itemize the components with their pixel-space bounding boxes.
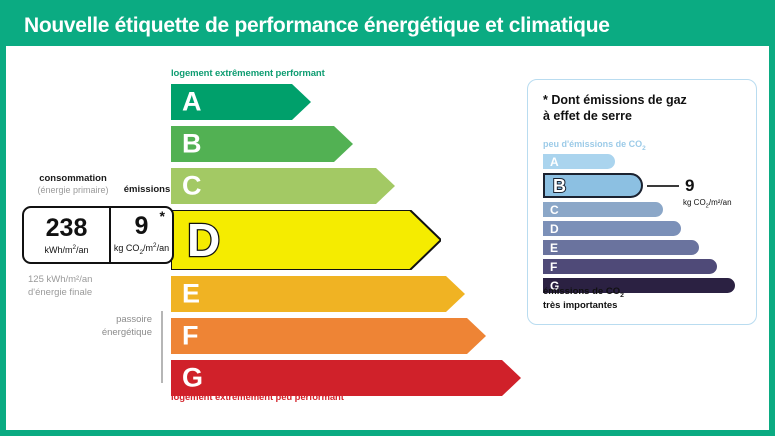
- passoire-line2: énergétique: [68, 327, 152, 340]
- ghg-caption-high: émissions de CO2 très importantes: [543, 286, 624, 313]
- energy-class-f-letter: F: [182, 323, 199, 350]
- energy-class-g-letter: G: [182, 365, 203, 392]
- ghg-class-d: D: [543, 221, 681, 236]
- scale-caption-bottom: logement extrêmement peu performant: [171, 392, 344, 403]
- ghg-heading-line2: à effet de serre: [543, 108, 743, 124]
- final-energy-line2: d'énergie finale: [28, 287, 92, 300]
- ghg-bar-group: ABCDEFG9kg CO2/m²/an: [543, 154, 743, 279]
- ghg-heading: * Dont émissions de gaz à effet de serre: [543, 92, 743, 125]
- dpe-card: Nouvelle étiquette de performance énergé…: [0, 0, 775, 436]
- ghg-class-b-letter: B: [553, 177, 566, 195]
- energy-class-d-letter: D: [187, 217, 220, 263]
- ghg-class-c-letter: C: [550, 204, 559, 216]
- ghg-panel: * Dont émissions de gaz à effet de serre…: [527, 79, 757, 325]
- energy-class-g-shape: [171, 360, 521, 396]
- ghg-class-d-letter: D: [550, 223, 559, 235]
- energy-bar-group: ABCDEFG: [171, 84, 521, 388]
- emissions-cell: * 9 kg CO2/m2/an: [111, 208, 172, 262]
- consumption-sublabel: (énergie primaire): [30, 185, 116, 196]
- ghg-value: 9: [685, 177, 694, 194]
- consumption-value: 238: [46, 216, 88, 241]
- energy-class-g: G: [171, 360, 521, 396]
- consumption-label-text: consommation: [39, 173, 107, 184]
- emissions-value: 9: [135, 214, 149, 239]
- ghg-caption-high-line1: émissions de CO2: [543, 286, 624, 300]
- energy-class-d: D: [171, 210, 441, 270]
- passoire-label: passoire énergétique: [68, 314, 152, 340]
- consumption-cell: 238 kWh/m2/an: [24, 208, 111, 262]
- ghg-class-a: A: [543, 154, 615, 169]
- ghg-class-c: C: [543, 202, 663, 217]
- title-bar: Nouvelle étiquette de performance énergé…: [6, 6, 769, 46]
- energy-class-c-letter: C: [182, 173, 202, 200]
- consumption-unit: kWh/m2/an: [44, 244, 88, 255]
- energy-class-a-letter: A: [182, 89, 202, 116]
- energy-class-f-shape: [171, 318, 486, 354]
- page-title: Nouvelle étiquette de performance énergé…: [24, 14, 610, 38]
- left-info-column: consommation (énergie primaire) émission…: [6, 46, 171, 436]
- energy-class-b: B: [171, 126, 353, 162]
- energy-class-c: C: [171, 168, 395, 204]
- scale-caption-top: logement extrêmement performant: [171, 68, 325, 79]
- footnote-asterisk: *: [160, 209, 165, 223]
- final-energy-line1: 125 kWh/m²/an: [28, 274, 92, 287]
- energy-class-e: E: [171, 276, 465, 312]
- passoire-divider: [161, 311, 163, 383]
- value-box: 238 kWh/m2/an * 9 kg CO2/m2/an: [22, 206, 174, 264]
- consumption-label: consommation (énergie primaire): [30, 173, 116, 196]
- ghg-class-a-letter: A: [550, 156, 559, 168]
- emissions-label: émissions: [116, 184, 178, 195]
- final-energy-note: 125 kWh/m²/an d'énergie finale: [28, 274, 92, 300]
- passoire-line1: passoire: [68, 314, 152, 327]
- energy-class-e-shape: [171, 276, 465, 312]
- energy-class-b-letter: B: [182, 131, 202, 158]
- ghg-caption-high-line2: très importantes: [543, 300, 624, 313]
- ghg-class-e-letter: E: [550, 242, 558, 254]
- emissions-unit: kg CO2/m2/an: [114, 242, 169, 256]
- ghg-class-e: E: [543, 240, 699, 255]
- ghg-class-f: F: [543, 259, 717, 274]
- ghg-unit: kg CO2/m²/an: [683, 198, 732, 210]
- energy-class-c-shape: [171, 168, 395, 204]
- ghg-class-f-letter: F: [550, 261, 557, 273]
- ghg-class-b: B: [543, 173, 643, 198]
- ghg-heading-line1: * Dont émissions de gaz: [543, 92, 743, 108]
- ghg-caption-low: peu d'émissions de CO2: [543, 139, 646, 152]
- energy-class-f: F: [171, 318, 486, 354]
- energy-class-a: A: [171, 84, 311, 120]
- energy-class-e-letter: E: [182, 281, 200, 308]
- ghg-leader-line: [647, 185, 679, 187]
